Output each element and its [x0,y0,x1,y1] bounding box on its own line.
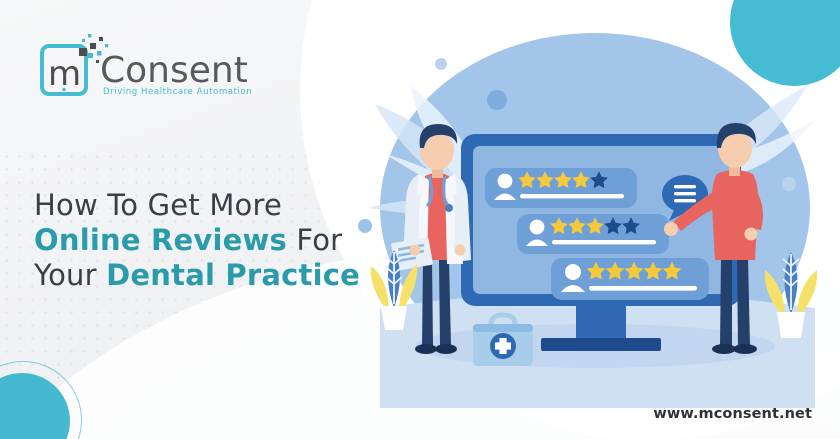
review-card-2 [517,214,669,254]
plant-left-fronds [386,252,402,304]
headline-line3-lead: Your [34,258,106,292]
headline-line2-rest: For [287,223,342,257]
review-card-3-textline [589,286,697,291]
plant-left-leaf-yellow-1 [371,266,389,308]
review-card-1 [485,168,637,208]
logo-wordmark: Consent [100,50,248,91]
review-card-3 [551,258,709,300]
headline-line1-text: How To Get More [34,188,282,222]
stethoscope-chestpiece [445,204,453,212]
deco-dot-4 [782,177,796,191]
doctor-leg-right [439,260,451,346]
illustration [345,8,840,408]
plant-right-pot [777,312,805,338]
doctor-leg-left [422,260,433,346]
visitor-leg-right [737,258,750,346]
headline-highlight-online-reviews: Online Reviews [34,223,287,257]
deco-dot-1 [358,219,372,233]
plant-left-pot [381,306,407,330]
visitor-shoe-left [712,344,736,354]
visitor-hand-right [745,228,758,241]
doctor-hand-left [410,245,421,256]
visitor-sweater [712,170,758,260]
brand-logo[interactable]: m Consent Driving Healthcare Automation [38,32,253,98]
visitor-leg-left [720,258,732,346]
marketing-banner: m Consent Driving Healthcare Automation … [0,0,840,439]
visitor-shoe-right [733,344,757,354]
doctor-shoe-right [435,344,457,354]
headline-highlight-dental-practice: Dental Practice [106,258,360,292]
doctor-hand-right [455,245,466,256]
deco-dot-3 [435,58,447,70]
doctor-shoe-left [415,344,437,354]
review-card-1-bg [485,168,637,208]
website-url[interactable]: www.mconsent.net [653,406,812,422]
review-card-2-textline [552,240,656,244]
logo-tagline: Driving Healthcare Automation [103,87,252,97]
logo-letter-m: m [48,54,81,94]
review-card-2-bg [517,214,669,254]
review-card-1-textline [520,194,624,198]
monitor-base [541,338,661,351]
visitor-hand-pointing [664,222,678,236]
deco-dot-2 [487,90,507,110]
monitor-stand [576,306,626,342]
